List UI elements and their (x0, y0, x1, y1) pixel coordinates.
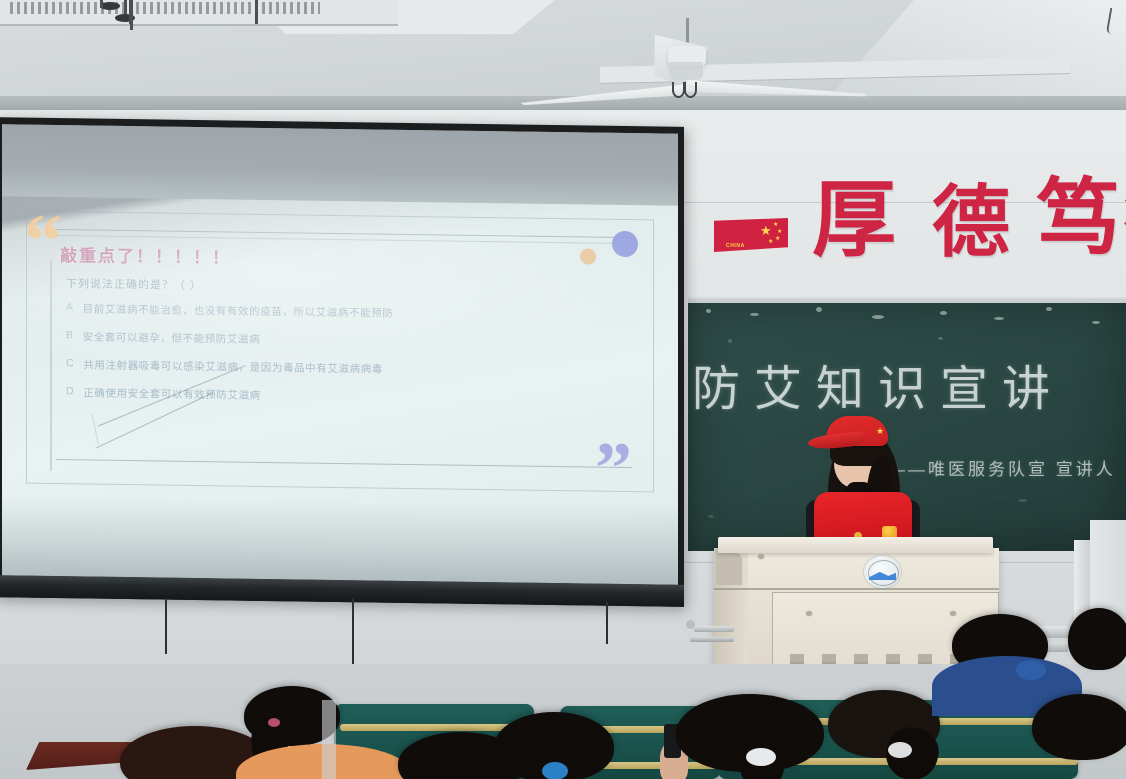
screen-pull-cord[interactable] (606, 602, 608, 644)
option-label: B (66, 329, 74, 344)
flag-small-star: ★ (768, 239, 773, 245)
presenter: ★ (800, 408, 950, 558)
decor-circle-blue (612, 231, 638, 257)
slide-accent-bar (50, 261, 52, 471)
slide-title: 敲重点了！！！！！ (60, 241, 231, 268)
lectern-screw (758, 554, 764, 559)
light-rod (100, 0, 103, 8)
banner-char-3: 笃 (1036, 176, 1120, 260)
screen-pull-cord[interactable] (165, 598, 167, 654)
ceiling-panel (0, 0, 398, 26)
fan-pull-chain[interactable] (684, 82, 697, 98)
lectern-seam (714, 588, 999, 590)
wall-banner: ★ ★ ★ ★ ★ CHINA 厚 德 笃 行 (700, 170, 1126, 290)
option-label: D (66, 385, 74, 400)
slide-question: 下列说法正确的是？（ ） (66, 275, 202, 293)
banner-char-2: 德 (932, 184, 1010, 262)
slide-option: B 安全套可以避孕，但不能预防艾滋病 (66, 329, 630, 352)
screen-pull-cord[interactable] (352, 598, 354, 670)
flag-big-star: ★ (760, 224, 772, 237)
ceiling-lamp (100, 2, 120, 10)
cap-star-icon: ★ (876, 426, 886, 436)
fan-shade (669, 62, 703, 80)
audience-head (1068, 608, 1126, 670)
hair-tie (1016, 660, 1046, 680)
flag-small-star: ★ (773, 222, 778, 228)
screen-top-band (2, 124, 678, 205)
china-flag-cutout: ★ ★ ★ ★ ★ CHINA (714, 218, 788, 252)
flag-label: CHINA (726, 243, 745, 249)
audience-head (1032, 694, 1126, 760)
screen-surface: “ ” 敲重点了！！！！！ 下列说法正确的是？（ ） A 目前艾滋病不能治愈，也… (2, 124, 678, 584)
projection-screen[interactable]: “ ” 敲重点了！！！！！ 下列说法正确的是？（ ） A 目前艾滋病不能治愈，也… (0, 117, 684, 607)
hair-tie (268, 718, 280, 727)
option-label: A (66, 301, 74, 316)
microphone-knob[interactable] (686, 620, 695, 629)
hair-scrunchie (888, 742, 912, 758)
light-rod (129, 0, 132, 24)
decor-circle-orange (580, 248, 596, 264)
flag-small-star: ★ (777, 229, 782, 235)
light-rod (255, 0, 258, 24)
hair-tie (542, 762, 568, 779)
banner-char-1: 厚 (812, 178, 896, 262)
option-label: C (66, 357, 74, 372)
quote-open-icon: “ (24, 215, 60, 269)
option-text: 安全套可以避孕，但不能预防艾滋病 (83, 329, 261, 346)
microphone-arm[interactable] (694, 626, 734, 632)
ceiling-air-vent (10, 2, 320, 14)
quote-close-icon: ” (595, 444, 630, 496)
slide-option: C 共用注射器吸毒可以感染艾滋病，是因为毒品中有艾滋病病毒 (66, 357, 630, 380)
option-text: 目前艾滋病不能治愈，也没有有效的疫苗，所以艾滋病不能预防 (83, 301, 394, 320)
ceiling-diagonal-panel (830, 0, 1126, 96)
screen-bottom-shade (2, 495, 678, 584)
slide-content: “ ” 敲重点了！！！！！ 下列说法正确的是？（ ） A 目前艾滋病不能治愈，也… (12, 202, 670, 502)
flag-small-star: ★ (775, 236, 780, 242)
lectern-desktop (718, 537, 993, 553)
lectern-latch[interactable] (950, 611, 956, 616)
microphone-arm[interactable] (690, 637, 734, 642)
classroom-scene: ★ ★ ★ ★ ★ CHINA 厚 德 笃 行 防艾知识宣讲 ——唯医服务队宣 … (0, 0, 1126, 779)
lectern-notch (716, 551, 742, 585)
lectern-latch[interactable] (806, 611, 812, 616)
school-emblem (864, 556, 901, 588)
option-text: 共用注射器吸毒可以感染艾滋病，是因为毒品中有艾滋病病毒 (83, 357, 383, 376)
hair-scrunchie (746, 748, 776, 766)
blackboard-title: 防艾知识宣讲 (692, 365, 1064, 413)
